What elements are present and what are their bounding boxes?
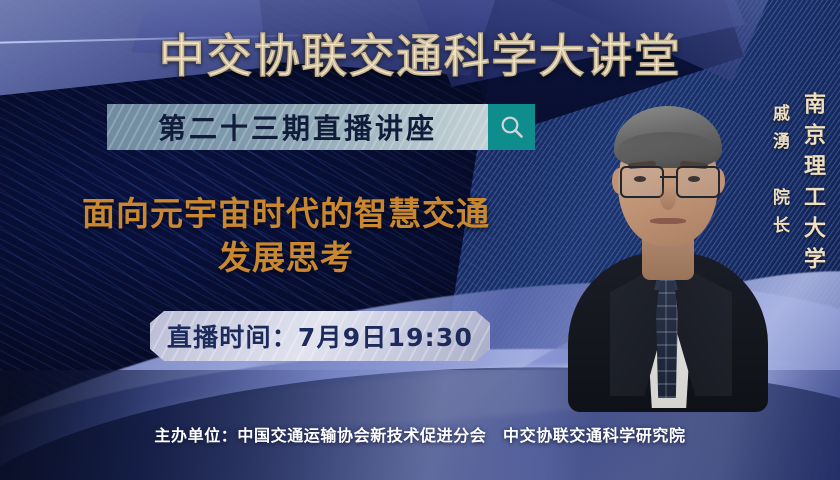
glasses-lens-left: [620, 166, 664, 198]
lecture-headline: 面向元宇宙时代的智慧交通 发展思考: [26, 192, 546, 280]
episode-label: 第二十三期直播讲座: [158, 107, 437, 147]
portrait-hair: [614, 106, 722, 168]
episode-banner-body: 第二十三期直播讲座: [107, 104, 488, 150]
portrait-mouth: [650, 218, 686, 224]
live-time-banner: 直播时间：7月9日19:30: [150, 311, 490, 361]
speaker-name: 戚湧 院长: [767, 104, 792, 244]
episode-banner: 第二十三期直播讲座: [107, 104, 535, 150]
speaker-affiliation: 南京理工大学: [796, 92, 828, 278]
speaker-portrait: [566, 92, 770, 392]
headline-line-1: 面向元宇宙时代的智慧交通: [82, 194, 490, 233]
livestream-poster: 中交协联交通科学大讲堂 第二十三期直播讲座 面向元宇宙时代的智慧交通 发展思考 …: [0, 0, 840, 480]
organizers-line: 主办单位：中国交通运输协会新技术促进分会 中交协联交通科学研究院: [0, 422, 840, 446]
search-icon[interactable]: [488, 104, 535, 150]
portrait-nose: [660, 186, 676, 210]
headline-line-2: 发展思考: [218, 238, 354, 277]
glasses-bridge: [660, 176, 676, 178]
glasses-lens-right: [676, 166, 720, 198]
page-title: 中交协联交通科学大讲堂: [0, 20, 840, 86]
live-time-label: 直播时间：7月9日19:30: [167, 318, 473, 354]
